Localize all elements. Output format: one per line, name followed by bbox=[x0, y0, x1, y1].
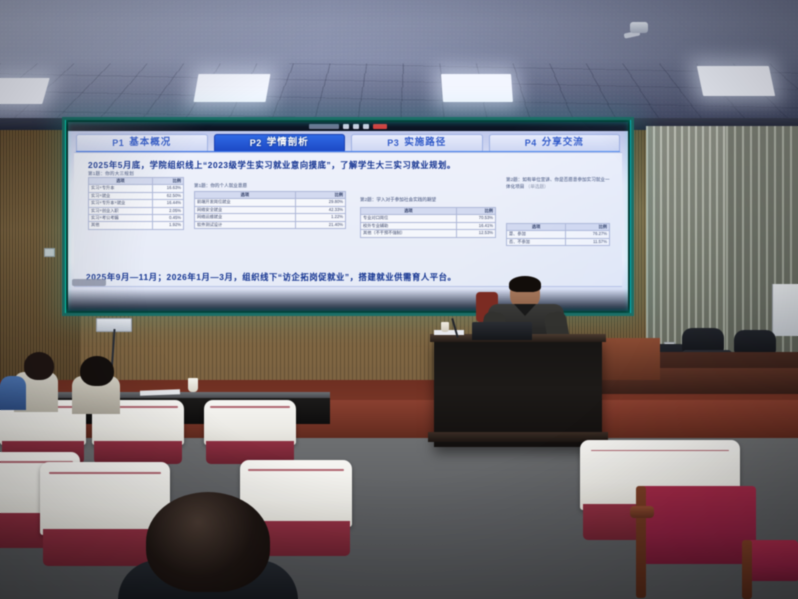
seat-back bbox=[636, 486, 756, 564]
wall-socket bbox=[44, 248, 55, 257]
audience-person-body bbox=[0, 376, 26, 410]
seat-piping bbox=[49, 472, 161, 474]
seat-armrest bbox=[630, 506, 654, 518]
audience-seat[interactable] bbox=[204, 400, 296, 464]
theatre-seat[interactable] bbox=[742, 540, 798, 599]
audience-person-head bbox=[80, 356, 114, 386]
seat-piping bbox=[591, 450, 729, 452]
audience-person-head bbox=[24, 352, 54, 380]
ceiling-panel-light bbox=[194, 74, 271, 102]
ceiling-panel-light bbox=[697, 66, 775, 96]
air-conditioner-unit bbox=[772, 284, 798, 336]
ceiling-panel-light bbox=[441, 74, 513, 102]
seat-wood-arm bbox=[636, 486, 646, 598]
seat-piping bbox=[210, 406, 289, 408]
seat-piping bbox=[248, 469, 344, 471]
podium-papers bbox=[434, 330, 464, 335]
podium-laptop[interactable] bbox=[472, 322, 532, 340]
ceiling-shading bbox=[0, 0, 798, 128]
lecture-hall-scene: P1 基本概况 P2 学情剖析 P3 实施路径 P4 分享交流 bbox=[0, 0, 798, 599]
presenter-hair bbox=[509, 276, 541, 292]
audience-cup bbox=[188, 378, 198, 392]
podium-cup bbox=[441, 322, 449, 332]
theatre-seat[interactable] bbox=[636, 486, 756, 598]
ceiling bbox=[0, 0, 798, 128]
podium bbox=[434, 338, 602, 447]
smoke-detector-icon bbox=[630, 22, 648, 33]
seat-wood-arm bbox=[742, 540, 752, 599]
foreground-person-head bbox=[146, 492, 270, 592]
seat-cover bbox=[204, 400, 296, 445]
ceiling-panel-light bbox=[0, 78, 50, 104]
seat-base bbox=[94, 441, 182, 464]
stage-side-ledge bbox=[598, 338, 660, 380]
